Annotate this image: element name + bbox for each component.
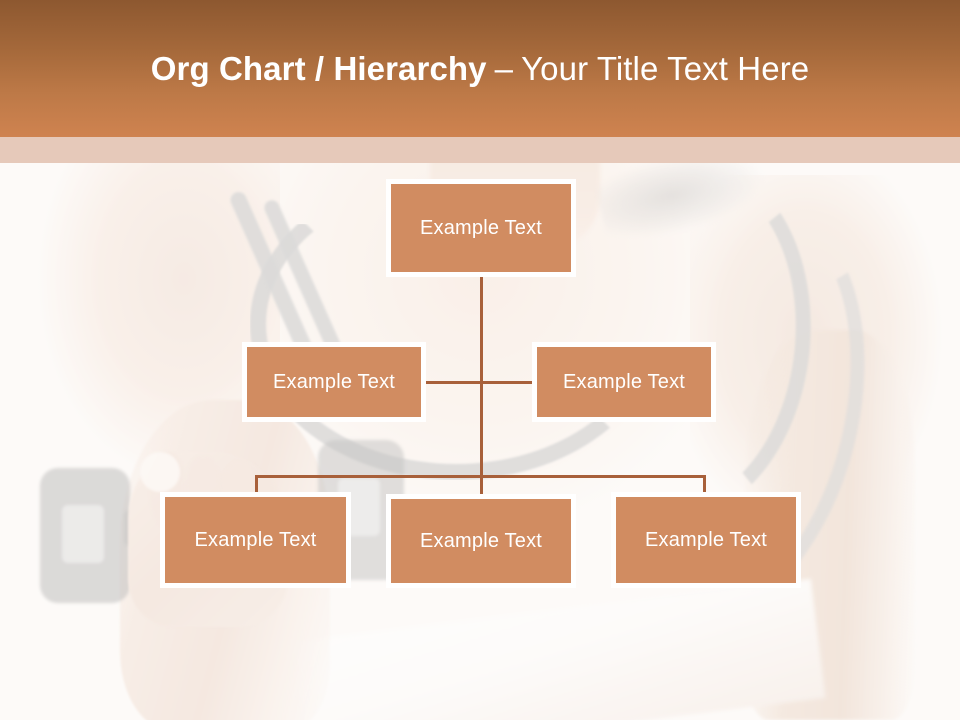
org-node-root-label: Example Text: [420, 217, 542, 240]
org-node-root[interactable]: Example Text: [386, 179, 576, 277]
connector-trunk-vertical: [480, 277, 483, 475]
org-node-level3-right[interactable]: Example Text: [611, 492, 801, 588]
org-node-level2-right-label: Example Text: [563, 371, 685, 394]
org-node-level2-right[interactable]: Example Text: [532, 342, 716, 422]
org-node-level3-center[interactable]: Example Text: [386, 494, 576, 588]
connector-level2-right: [480, 381, 533, 384]
org-node-level3-center-label: Example Text: [420, 530, 542, 553]
org-node-level2-left-label: Example Text: [273, 371, 395, 394]
slide-canvas: Org Chart / Hierarchy – Your Title Text …: [0, 0, 960, 720]
connector-level2-left: [426, 381, 481, 384]
org-node-level3-left-label: Example Text: [194, 529, 316, 552]
org-node-level3-left[interactable]: Example Text: [160, 492, 351, 588]
org-node-level3-right-label: Example Text: [645, 529, 767, 552]
org-chart: Example Text Example Text Example Text E…: [0, 0, 960, 720]
org-node-level2-left[interactable]: Example Text: [242, 342, 426, 422]
connector-level3-drop-center: [480, 475, 483, 495]
